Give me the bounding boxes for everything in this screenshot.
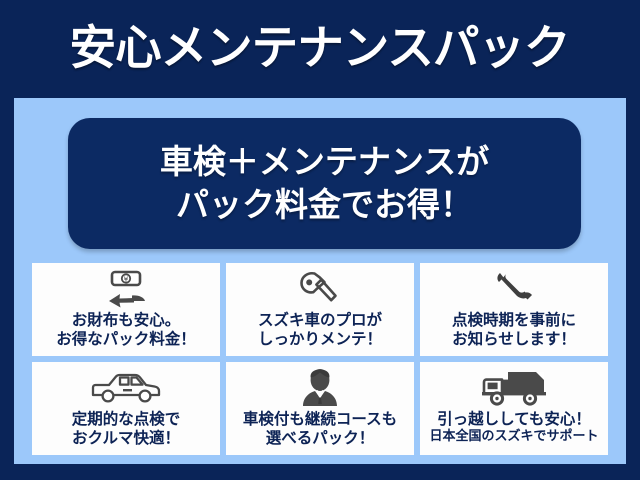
advertisement-banner: 安心メンテナンスパック 車検＋メンテナンスが パック料金でお得！ ¥ bbox=[0, 0, 640, 480]
features-grid: ¥ お財布も安心。 お得なパック料金！ bbox=[32, 263, 608, 455]
feature-text: 点検時期を事前に お知らせします！ bbox=[420, 311, 608, 349]
feature-line-1: 引っ越ししても安心！ bbox=[420, 410, 608, 429]
feature-line-1: スズキ車のプロが bbox=[226, 311, 414, 330]
feature-line-2: お得なパック料金！ bbox=[32, 330, 220, 349]
feature-cell-price: ¥ お財布も安心。 お得なパック料金！ bbox=[32, 263, 220, 356]
money-in-hand-icon: ¥ bbox=[99, 268, 153, 310]
feature-line-2: しっかりメンテ！ bbox=[226, 330, 414, 349]
car-icon bbox=[89, 367, 163, 409]
feature-text: 定期的な点検で おクルマ快適！ bbox=[32, 410, 220, 448]
subtitle-line-2: パック料金でお得！ bbox=[176, 184, 473, 226]
feature-text: 引っ越ししても安心！ 日本全国のスズキでサポート bbox=[420, 410, 608, 445]
feature-line-1: 車検付も継続コースも bbox=[226, 410, 414, 429]
feature-line-1: 定期的な点検で bbox=[32, 410, 220, 429]
subtitle-callout: 車検＋メンテナンスが パック料金でお得！ bbox=[68, 118, 581, 249]
svg-text:¥: ¥ bbox=[124, 275, 129, 284]
feature-line-1: 点検時期を事前に bbox=[420, 311, 608, 330]
feature-text: お財布も安心。 お得なパック料金！ bbox=[32, 311, 220, 349]
feature-text: 車検付も継続コースも 選べるパック！ bbox=[226, 410, 414, 448]
feature-cell-nationwide-support: 引っ越ししても安心！ 日本全国のスズキでサポート bbox=[420, 362, 608, 455]
telephone-handset-icon bbox=[491, 268, 537, 310]
feature-line-2: お知らせします！ bbox=[420, 330, 608, 349]
feature-line-2: 選べるパック！ bbox=[226, 429, 414, 448]
wrench-icon bbox=[297, 268, 343, 310]
feature-cell-inspection: 定期的な点検で おクルマ快適！ bbox=[32, 362, 220, 455]
feature-cell-notification: 点検時期を事前に お知らせします！ bbox=[420, 263, 608, 356]
staff-person-icon bbox=[295, 367, 345, 409]
page-title: 安心メンテナンスパック bbox=[70, 25, 570, 72]
feature-text: スズキ車のプロが しっかりメンテ！ bbox=[226, 311, 414, 349]
feature-line-2: 日本全国のスズキでサポート bbox=[420, 429, 608, 445]
banner-header: 安心メンテナンスパック bbox=[0, 0, 640, 96]
feature-cell-course-options: 車検付も継続コースも 選べるパック！ bbox=[226, 362, 414, 455]
moving-truck-icon bbox=[478, 367, 550, 409]
subtitle-line-1: 車検＋メンテナンスが bbox=[160, 141, 489, 183]
feature-line-2: おクルマ快適！ bbox=[32, 429, 220, 448]
feature-cell-maintenance: スズキ車のプロが しっかりメンテ！ bbox=[226, 263, 414, 356]
content-panel: 車検＋メンテナンスが パック料金でお得！ ¥ bbox=[14, 98, 626, 464]
feature-line-1: お財布も安心。 bbox=[32, 311, 220, 330]
